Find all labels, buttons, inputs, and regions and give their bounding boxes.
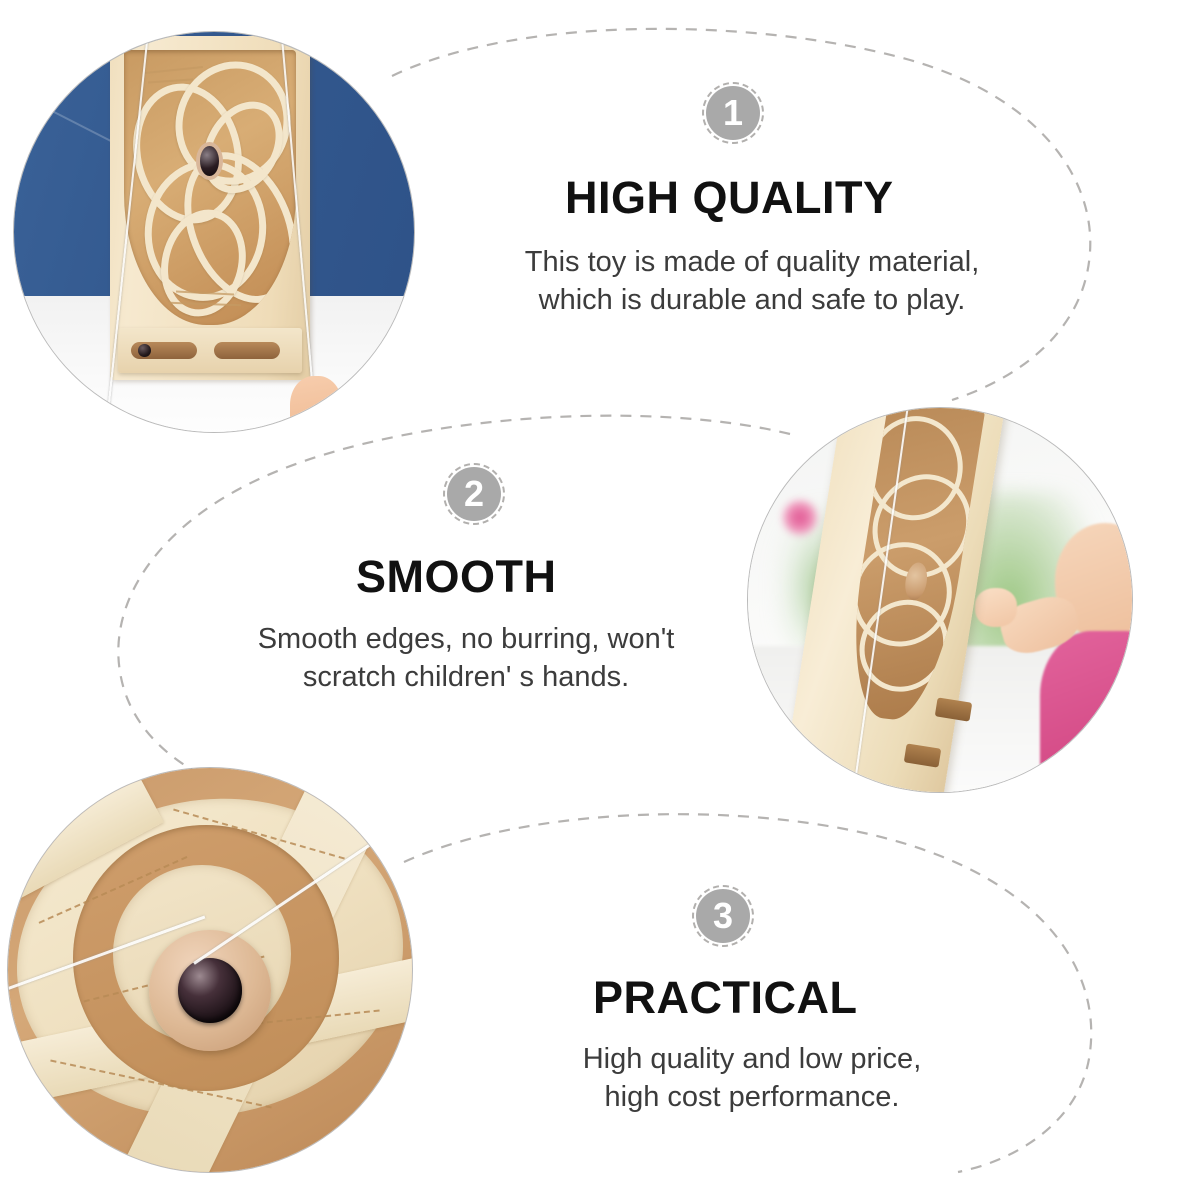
- engraved-decoration: [145, 66, 203, 74]
- feature-title-1: HIGH QUALITY: [565, 172, 894, 224]
- feature-description-3-line1: High quality and low price,: [472, 1040, 1032, 1078]
- badge-number: 2: [464, 476, 484, 512]
- feature-title-2: SMOOTH: [356, 551, 557, 603]
- feature-title-3: PRACTICAL: [593, 972, 857, 1024]
- feature-description-3: High quality and low price, high cost pe…: [472, 1040, 1032, 1117]
- feature-description-2: Smooth edges, no burring, won't scratch …: [186, 620, 746, 697]
- blurred-flower: [783, 500, 818, 535]
- product-photo-1: [14, 32, 414, 432]
- feature-badge-1: 1: [702, 82, 764, 144]
- child-body: [1040, 631, 1132, 785]
- hand: [290, 376, 342, 432]
- maze-track-area: [124, 50, 296, 325]
- feature-description-1-line1: This toy is made of quality material,: [452, 243, 1052, 281]
- maze-ball: [200, 146, 219, 176]
- maze-board: [110, 36, 310, 380]
- feature-description-2-line2: scratch children' s hands.: [186, 658, 746, 696]
- feature-badge-2: 2: [443, 463, 505, 525]
- base-slot: [214, 342, 280, 359]
- feature-description-2-line1: Smooth edges, no burring, won't: [186, 620, 746, 658]
- infographic-page: 1 HIGH QUALITY This toy is made of quali…: [0, 0, 1177, 1190]
- badge-disc: 3: [696, 889, 750, 943]
- badge-disc: 2: [447, 467, 501, 521]
- maze-ball: [178, 958, 243, 1023]
- badge-disc: 1: [706, 86, 760, 140]
- feature-description-1-line2: which is durable and safe to play.: [452, 281, 1052, 319]
- badge-number: 3: [713, 898, 733, 934]
- child-hand: [975, 588, 1017, 626]
- badge-number: 1: [723, 95, 743, 131]
- feature-badge-3: 3: [692, 885, 754, 947]
- product-photo-2: [748, 408, 1132, 792]
- feature-description-3-line2: high cost performance.: [472, 1078, 1032, 1116]
- product-photo-3: [8, 768, 412, 1172]
- spare-ball: [138, 344, 151, 357]
- feature-description-1: This toy is made of quality material, wh…: [452, 243, 1052, 320]
- board-base: [118, 328, 302, 373]
